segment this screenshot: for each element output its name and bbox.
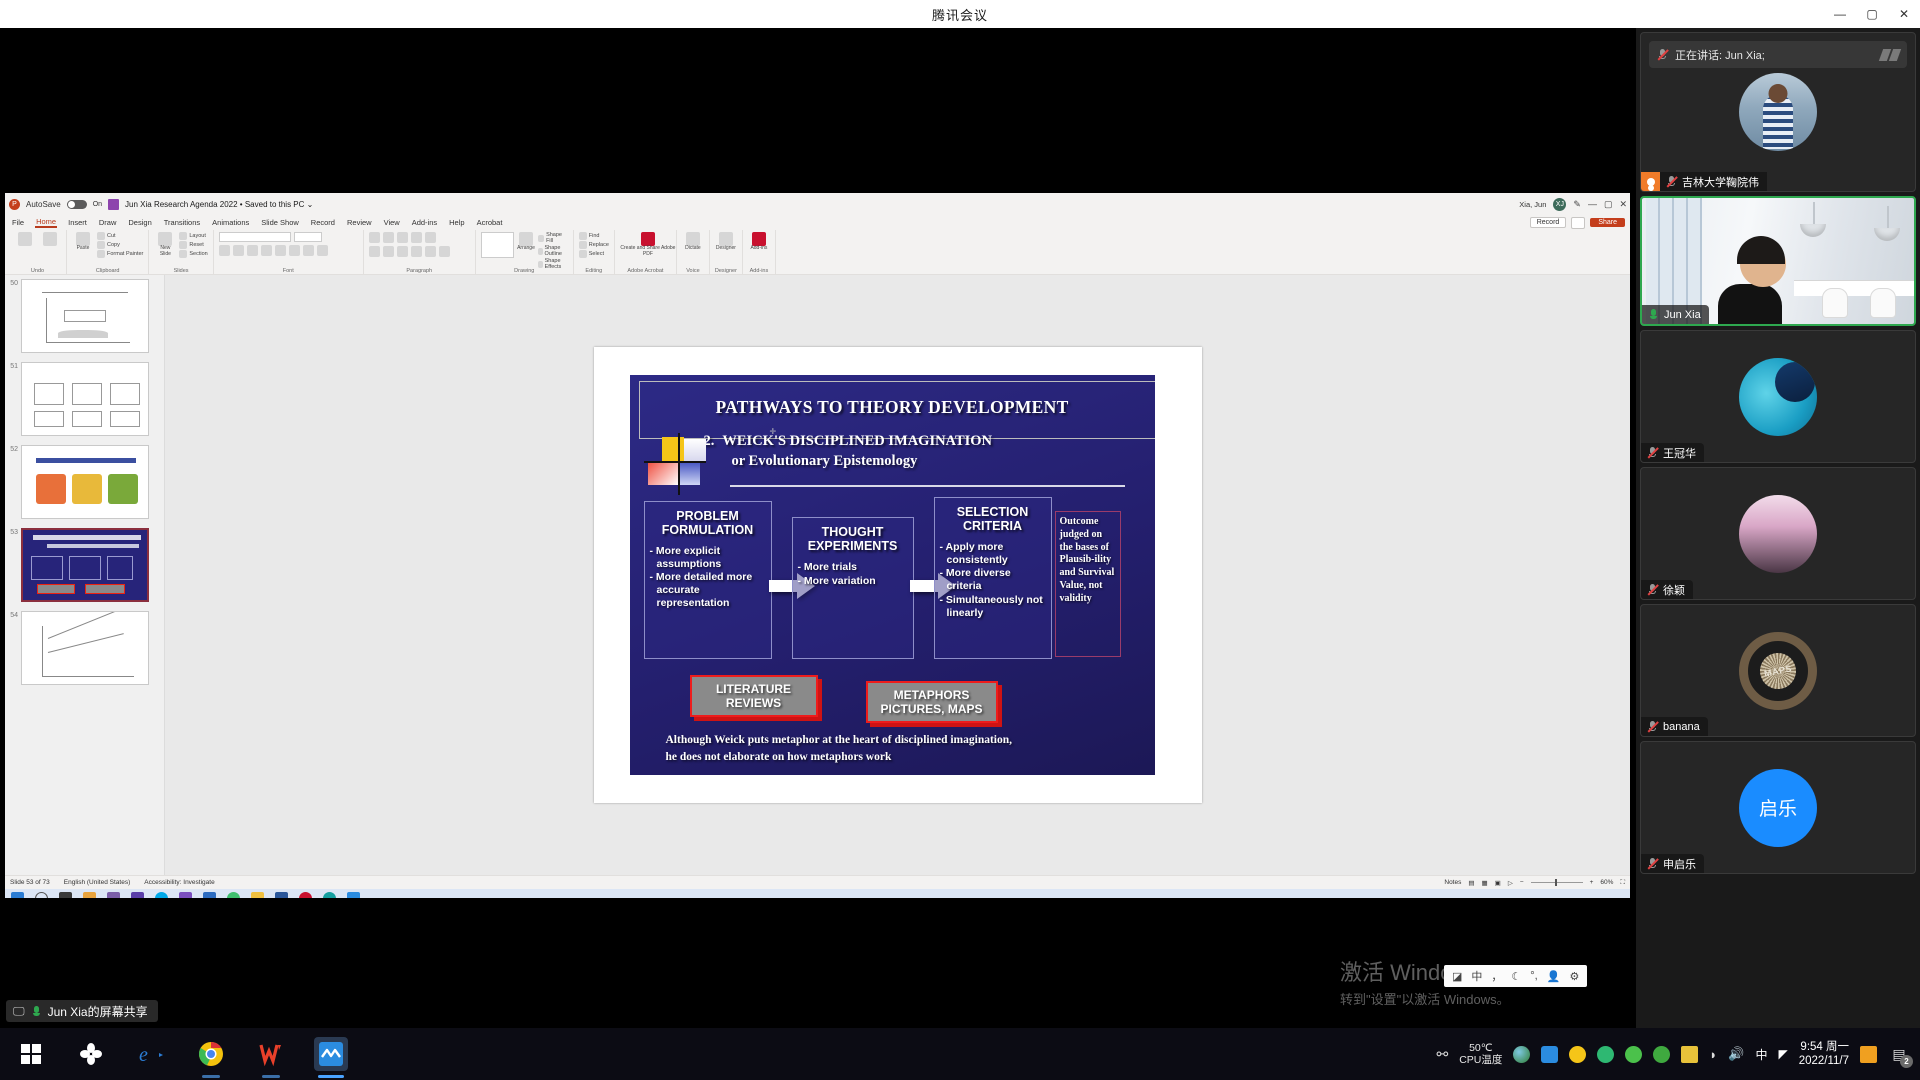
windows-taskbar: e ⚯ 50℃ CPU温度 [0,1028,1920,1080]
powerpoint-window: P AutoSave On Jun Xia Research Agenda 20… [5,193,1630,898]
ribbon-group-label: Undo [9,268,66,274]
ime-settings-icon[interactable]: ⚙ [1569,970,1579,983]
zoom-slider[interactable] [1531,882,1583,883]
meeting-app-window: 腾讯会议 — ▢ ✕ P AutoSave On Jun Xia Researc… [0,0,1920,1080]
avatar [1739,495,1817,573]
participant-tile[interactable]: 王冠华 [1640,330,1916,463]
wechat-tray-icon[interactable] [1625,1046,1642,1063]
comments-button[interactable] [1571,217,1585,229]
clock-time: 9:54 周一 [1799,1040,1849,1054]
notes-button[interactable]: Notes [1444,879,1461,886]
mic-muted-icon [1647,446,1658,459]
document-name: Jun Xia Research Agenda 2022 • Saved to … [125,200,313,209]
ppt-close-icon[interactable]: ✕ [1619,199,1627,210]
participant-tile[interactable]: 启乐 申启乐 [1640,741,1916,874]
slide-thumbnail[interactable] [21,611,149,685]
list-item: - More variation [798,575,909,588]
ime-user-icon[interactable]: 👤 [1547,970,1561,983]
folder-icon[interactable] [251,892,264,899]
ribbon-group-undo: Undo [9,230,67,274]
ribbon-group-paragraph: Paragraph [364,230,476,274]
avatar [1739,358,1817,436]
browser-tray-icon[interactable] [1513,1046,1530,1063]
edge-icon[interactable] [131,892,144,899]
new-slide-button[interactable]: New Slide [154,232,176,257]
participant-name-tag: 徐颖 [1641,580,1693,599]
ribbon-group-label: Slides [149,268,212,274]
taskbar-apps: e [0,1037,348,1071]
powerpoint-status-bar: Slide 53 of 73 English (United States) A… [5,875,1630,889]
process-box-thought-experiments: THOUGHTEXPERIMENTS - More trials - More … [792,517,914,659]
thumbnail-number: 54 [7,611,18,619]
thumbnail-number: 52 [7,445,18,453]
start-icon[interactable] [11,892,24,899]
zoom-out-button[interactable]: − [1520,879,1524,886]
user-name: Xia, Jun [1519,200,1546,209]
screen-share-icon: 🖵 [13,1004,25,1019]
tab-help[interactable]: Help [448,218,465,227]
svg-text:e: e [139,1044,148,1066]
participant-rail[interactable]: 正在讲话: Jun Xia; 吉林大学鞠院伟 [1636,28,1920,1028]
list-item[interactable]: 50 [7,279,164,353]
ime-logo-icon[interactable]: ◪ [1452,970,1462,983]
system-tray: ⚯ 50℃ CPU温度 ◗ 🔊 中 ◤ 9:54 周一 2022/11/7 ▤2 [1436,1040,1920,1069]
list-item[interactable]: 52 [7,445,164,519]
slide-subtitle: 2.WEICK'S DISCIPLINED IMAGINATION or Evo… [704,432,1145,471]
language-indicator[interactable]: English (United States) [64,879,130,886]
ribbon-group-label: Designer [710,268,742,274]
ribbon-group-label: Voice [677,268,709,274]
mail-icon[interactable] [107,892,120,899]
participant-name-tag: 王冠华 [1641,443,1704,462]
word-icon[interactable] [203,892,216,899]
smartart-button[interactable] [439,246,450,257]
gray-box-literature-reviews: LITERATURE REVIEWS [690,675,818,717]
tab-slide-show[interactable]: Slide Show [260,218,300,227]
underline-button[interactable] [247,245,258,256]
list-item: - More trials [798,561,909,574]
search-icon[interactable] [35,892,48,899]
tab-acrobat[interactable]: Acrobat [476,218,504,227]
subtitle-line2: or Evolutionary Epistemology [704,452,1145,472]
gray-box-metaphors: METAPHORS PICTURES, MAPS [866,681,998,723]
ribbon-group-label: Add-ins [743,268,775,274]
copy-button[interactable]: Copy [97,241,143,249]
ribbon-group-editing: Find Replace Select Editing [574,230,615,274]
shape-outline-button[interactable]: Shape Outline [538,245,568,257]
mic-on-icon [1648,308,1659,321]
send-tray-icon[interactable] [1597,1046,1614,1063]
thumbnail-number: 50 [7,279,18,287]
select-button[interactable]: Select [579,250,609,258]
gray-box-line1: LITERATURE [716,682,791,696]
avatar: 启乐 [1739,769,1817,847]
participant-name: 徐颖 [1663,582,1685,598]
process-box-selection-criteria: SELECTIONCRITERIA - Apply more consisten… [934,497,1052,659]
volume-icon[interactable]: 🔊 [1728,1046,1744,1062]
ribbon-right-actions: Record Share [1530,217,1630,229]
screen-share-indicator: 🖵 Jun Xia的屏幕共享 [6,1000,158,1022]
powerpoint-titlebar: P AutoSave On Jun Xia Research Agenda 20… [5,193,1630,215]
ppt-restore-icon[interactable]: ▢ [1604,199,1613,210]
decrease-indent-button[interactable] [397,232,408,243]
tencent-meeting-tray-icon[interactable] [1541,1046,1558,1063]
layout-button[interactable]: Layout [179,232,207,240]
undo-button[interactable] [14,232,36,246]
box-bullet-list: - More explicit assumptions - More detai… [645,545,771,610]
participant-tile-speaking[interactable]: Jun Xia [1640,196,1916,326]
participant-name-tag: 吉林大学鞠院伟 [1660,172,1767,191]
fit-to-window-icon[interactable]: ⛶ [1620,879,1625,887]
warning-tray-icon[interactable] [1681,1046,1698,1063]
ime-emoji-icon[interactable]: °, [1530,970,1537,982]
numbering-button[interactable] [383,232,394,243]
box-heading: PROBLEMFORMULATION [645,502,771,538]
update-tray-icon[interactable] [1569,1046,1586,1063]
wps-office-icon[interactable] [254,1037,288,1071]
line-spacing-button[interactable] [425,232,436,243]
section-button[interactable]: Section [179,250,207,258]
outlook-icon[interactable] [275,892,288,899]
cut-button[interactable]: Cut [97,232,143,240]
maximize-button[interactable]: ▢ [1856,0,1888,28]
notification-count: 2 [1900,1055,1913,1068]
participant-name-tag: banana [1641,717,1708,736]
participant-tile[interactable]: banana [1640,604,1916,737]
accessibility-status[interactable]: Accessibility: Investigate [144,879,214,886]
record-button[interactable]: Record [1530,217,1567,228]
titlebar-right-cluster: Xia, Jun XJ ✎ — ▢ ✕ [1519,193,1627,215]
list-item[interactable]: 54 [7,611,164,685]
font-color-button[interactable] [317,245,328,256]
chevron-down-icon: ⌄ [307,200,314,209]
ime-pen-icon[interactable]: ◤ [1778,1047,1787,1061]
task-view-icon[interactable] [59,892,72,899]
list-item: - Simultaneously not linearly [940,594,1047,620]
list-item[interactable]: 51 [7,362,164,436]
mic-muted-icon [1647,583,1658,596]
ime-moon-icon[interactable]: ☾ [1511,970,1521,983]
chrome-icon[interactable] [227,892,240,899]
security-shield-icon[interactable] [1653,1046,1670,1063]
google-chrome-icon[interactable] [194,1037,228,1071]
ribbon-group-label: Font [214,268,363,274]
participant-name-tag: 申启乐 [1641,854,1704,873]
text-shadow-button[interactable] [261,245,272,256]
change-case-button[interactable] [303,245,314,256]
mic-muted-icon [1666,175,1677,188]
outcome-note: Outcome judged on the bases of Plausib-i… [1055,511,1121,657]
close-button[interactable]: ✕ [1888,0,1920,28]
tab-insert[interactable]: Insert [67,218,88,227]
autosave-icon: P [9,199,20,210]
reset-button[interactable]: Reset [179,241,207,249]
file-explorer-icon[interactable] [83,892,96,899]
slide-thumbnail-panel[interactable]: 50 51 [5,275,165,875]
people-icon[interactable]: ⚯ [1436,1046,1448,1063]
participant-name: banana [1663,721,1700,733]
meeting-titlebar: 腾讯会议 — ▢ ✕ [0,0,1920,28]
zoom-level[interactable]: 60% [1600,879,1613,886]
slide-thumbnail[interactable] [21,279,149,353]
tencent-meeting-icon[interactable] [314,1037,348,1071]
host-badge-icon [1641,172,1660,191]
font-size-select[interactable] [294,232,322,242]
mic-muted-icon [1647,720,1658,733]
character-spacing-button[interactable] [289,245,300,256]
speaking-label: 正在讲话: Jun Xia; [1675,47,1765,63]
taskbar-clock[interactable]: 9:54 周一 2022/11/7 [1799,1040,1849,1069]
media-tray-icon[interactable] [1860,1046,1877,1063]
ribbon-group-label: Paragraph [364,268,475,274]
process-box-problem-formulation: PROBLEMFORMULATION - More explicit assum… [644,501,772,659]
ime-language-icon[interactable]: 中 [1755,1046,1767,1063]
skype-icon[interactable] [155,892,168,899]
share-indicator-label: Jun Xia的屏幕共享 [48,1003,148,1020]
wifi-icon[interactable]: ◗ [1709,1047,1717,1062]
tab-file[interactable]: File [11,218,25,227]
participant-name: 吉林大学鞠院伟 [1682,174,1759,190]
list-item: - More diverse criteria [940,567,1047,593]
avatar [1739,73,1817,151]
slide-thumbnail-selected[interactable] [21,528,149,602]
slide-surface[interactable]: PATHWAYS TO THEORY DEVELOPMENT ✛ 2.WEICK… [594,347,1202,803]
thumbnail-number: 51 [7,362,18,370]
slide-counter[interactable]: Slide 53 of 73 [10,879,50,886]
strikethrough-button[interactable] [275,245,286,256]
dictate-button[interactable]: Dictate [682,232,704,252]
create-share-pdf-button[interactable]: Create and Share Adobe PDF [620,232,676,257]
window-controls: — ▢ ✕ [1824,0,1920,28]
teams-icon[interactable] [179,892,192,899]
ppt-minimize-icon[interactable]: — [1588,199,1597,209]
ribbon-group-acrobat: Create and Share Adobe PDF Adobe Acrobat [615,230,677,274]
gray-box-line2: PICTURES, MAPS [880,702,982,716]
tab-add-ins[interactable]: Add-ins [411,218,438,227]
font-family-select[interactable] [219,232,291,242]
cpu-temp-value: 50℃ [1459,1042,1502,1054]
align-center-button[interactable] [383,246,394,257]
format-painter-button[interactable]: Format Painter [97,250,143,258]
redo-button[interactable] [39,232,61,246]
autosave-toggle[interactable] [67,200,87,209]
powerpoint-body: 50 51 [5,275,1630,875]
slide-content[interactable]: PATHWAYS TO THEORY DEVELOPMENT ✛ 2.WEICK… [630,375,1155,775]
ime-floating-toolbar[interactable]: ◪ 中 ， ☾ °, 👤 ⚙ [1444,965,1587,987]
save-icon[interactable] [108,199,119,210]
gray-box-line1: METAPHORS [894,688,970,702]
clock-date: 2022/11/7 [1799,1054,1849,1068]
slide-thumbnail[interactable] [21,362,149,436]
tab-review[interactable]: Review [346,218,373,227]
ribbon: Undo Paste Cut Copy Format Painter Clipb… [5,230,1630,275]
normal-view-icon[interactable]: ▤ [1468,879,1474,887]
columns-button[interactable] [425,246,436,257]
box-heading: THOUGHTEXPERIMENTS [793,518,913,554]
powerpoint-icon[interactable] [299,892,312,899]
shapes-gallery[interactable] [481,232,514,258]
reading-view-icon[interactable]: ▣ [1495,879,1501,887]
audio-wave-icon [1881,49,1899,61]
mic-muted-icon [1647,857,1658,870]
replace-button[interactable]: Replace [579,241,609,249]
autosave-state: On [93,201,102,208]
tab-record[interactable]: Record [310,218,336,227]
ribbon-group-label: Adobe Acrobat [615,268,676,274]
slide-thumbnail[interactable] [21,445,149,519]
ribbon-group-drawing: Arrange Shape Fill Shape Outline Shape E… [476,230,574,274]
italic-button[interactable] [233,245,244,256]
divider [730,485,1125,487]
subtitle-line1: WEICK'S DISCIPLINED IMAGINATION [722,433,992,449]
ribbon-group-clipboard: Paste Cut Copy Format Painter Clipboard [67,230,149,274]
slide-footer: Although Weick puts metaphor at the hear… [666,732,1141,765]
share-button[interactable]: Share [1590,218,1625,227]
slide-sorter-icon[interactable]: ▦ [1482,879,1488,887]
decorative-logo [648,437,710,489]
thumbnail-number: 53 [7,528,18,536]
box-heading: SELECTIONCRITERIA [935,498,1051,534]
tab-design[interactable]: Design [127,218,152,227]
zoom-in-button[interactable]: + [1590,879,1594,886]
avatar [1739,632,1817,710]
align-right-button[interactable] [397,246,408,257]
internet-explorer-icon[interactable]: e [134,1037,168,1071]
box-bullet-list: - More trials - More variation [793,561,913,588]
designer-button[interactable]: Designer [715,232,737,252]
active-speaker-banner: 正在讲话: Jun Xia; [1649,41,1907,68]
minimize-button[interactable]: — [1824,0,1856,28]
shared-screen-stage: P AutoSave On Jun Xia Research Agenda 20… [0,28,1636,1028]
start-button-icon[interactable] [14,1037,48,1071]
paste-button[interactable]: Paste [72,232,94,252]
ribbon-group-label: Editing [574,268,614,274]
tab-view[interactable]: View [383,218,401,227]
cpu-temp-label: CPU温度 [1459,1054,1502,1066]
cpu-temperature-widget[interactable]: 50℃ CPU温度 [1459,1042,1502,1066]
box-bullet-list: - Apply more consistently - More diverse… [935,541,1051,620]
slide-title: PATHWAYS TO THEORY DEVELOPMENT [630,397,1155,418]
participant-name: 申启乐 [1663,856,1696,872]
participant-tile[interactable]: 正在讲话: Jun Xia; 吉林大学鞠院伟 [1640,32,1916,192]
justify-button[interactable] [411,246,422,257]
bullets-button[interactable] [369,232,380,243]
mic-on-icon [31,1005,42,1018]
wechat-icon[interactable] [323,892,336,899]
ribbon-group-voice: Dictate Voice [677,230,710,274]
ribbon-group-font: Font [214,230,364,274]
list-item: - More detailed more accurate representa… [650,571,767,609]
tab-transitions[interactable]: Transitions [163,218,201,227]
status-right-cluster: Notes ▤ ▦ ▣ ▷ − + 60% ⛶ [1444,879,1625,887]
mic-muted-icon [1657,48,1668,61]
increase-indent-button[interactable] [411,232,422,243]
slide-canvas[interactable]: PATHWAYS TO THEORY DEVELOPMENT ✛ 2.WEICK… [165,275,1630,875]
pen-icon[interactable]: ✎ [1573,199,1581,210]
tencent-meeting-icon[interactable] [347,892,360,899]
ribbon-group-designer: Designer Designer [710,230,743,274]
participant-name: Jun Xia [1664,309,1701,321]
ribbon-tab-strip: File Home Insert Draw Design Transitions… [5,215,1630,230]
tab-animations[interactable]: Animations [211,218,250,227]
participant-name: 王冠华 [1663,445,1696,461]
slideshow-icon[interactable]: ▷ [1508,879,1513,887]
shape-fill-button[interactable]: Shape Fill [538,232,568,244]
arrange-button[interactable]: Arrange [517,232,535,252]
footer-line1: Although Weick puts metaphor at the hear… [666,732,1141,748]
gray-box-line2: REVIEWS [726,696,781,710]
ime-language-toggle[interactable]: 中 [1471,968,1482,984]
ribbon-group-label: Clipboard [67,268,148,274]
ribbon-group-addins: Add-ins Add-ins [743,230,776,274]
shared-os-taskbar [5,889,1630,898]
app-title: 腾讯会议 [932,5,988,24]
add-ins-button[interactable]: Add-ins [748,232,770,252]
list-item[interactable]: 53 [7,528,164,602]
avatar[interactable]: XJ [1553,198,1566,211]
participant-tile[interactable]: 徐颖 [1640,467,1916,600]
footer-line2: he does not elaborate on how metaphors w… [666,749,1141,765]
ribbon-group-label: Drawing [476,268,573,274]
list-item: - More explicit assumptions [650,545,767,571]
tab-draw[interactable]: Draw [98,218,118,227]
bold-button[interactable] [219,245,230,256]
flower-app-icon[interactable] [74,1037,108,1071]
tab-home[interactable]: Home [35,217,57,228]
ribbon-group-slides: New Slide Layout Reset Section Slides [149,230,213,274]
autosave-label: AutoSave [26,200,61,209]
align-left-button[interactable] [369,246,380,257]
participant-name-tag: Jun Xia [1642,305,1709,324]
list-item: - Apply more consistently [940,541,1047,567]
ime-punctuation-icon[interactable]: ， [1491,968,1502,984]
find-button[interactable]: Find [579,232,609,240]
notification-center-icon[interactable]: ▤2 [1888,1043,1910,1065]
